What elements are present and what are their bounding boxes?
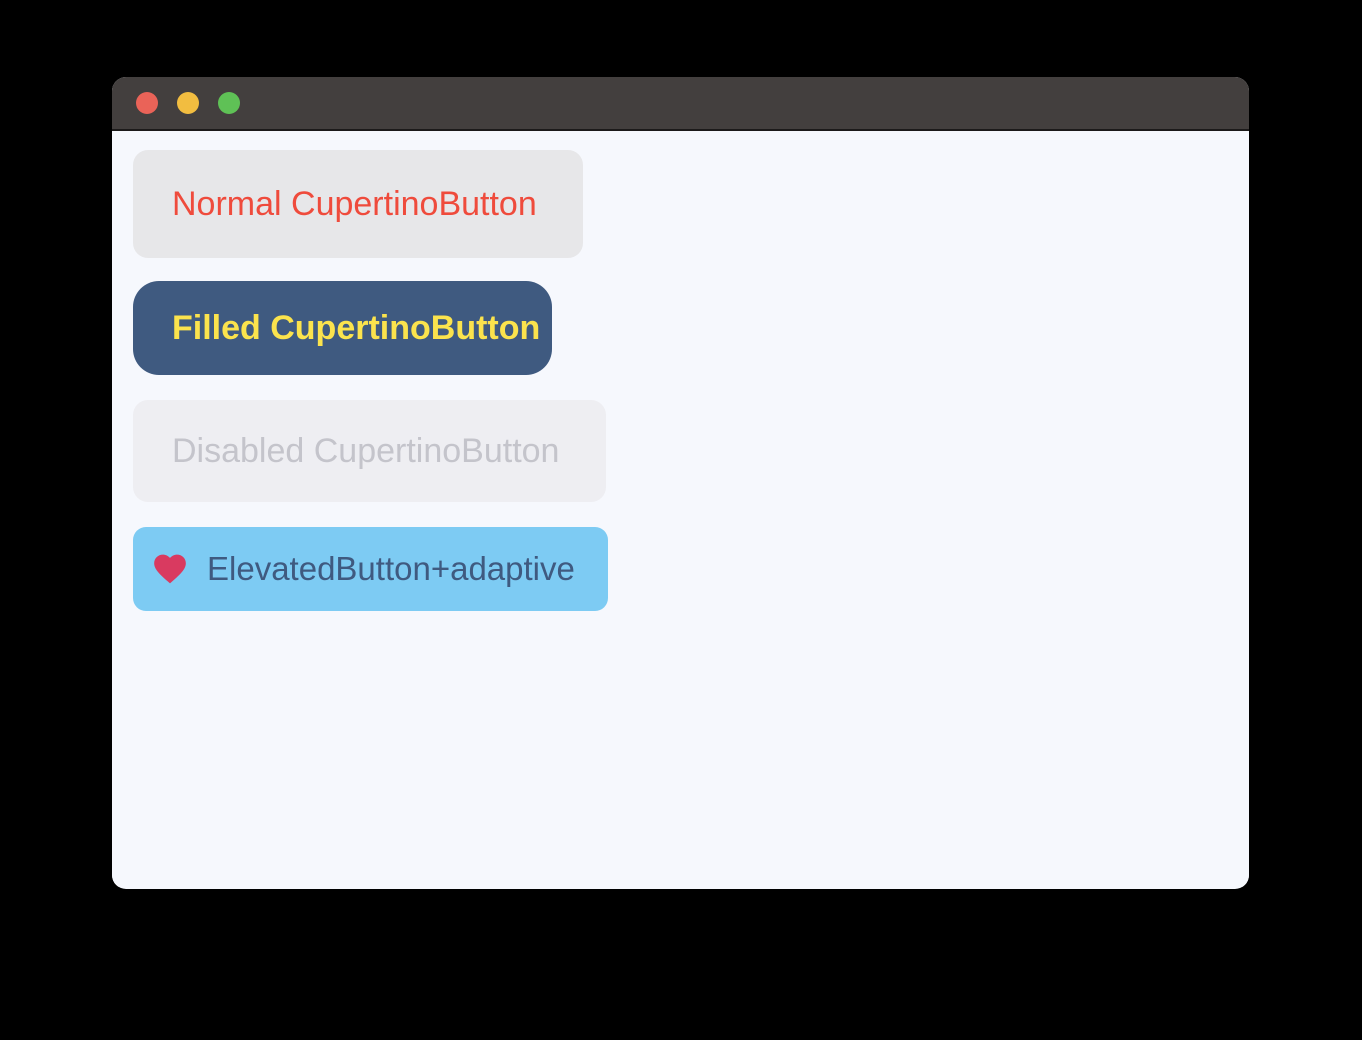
minimize-window-button[interactable] <box>177 92 199 114</box>
heart-icon <box>151 550 189 588</box>
window-content: Normal CupertinoButton Filled CupertinoB… <box>112 131 1249 887</box>
elevated-button-adaptive[interactable]: ElevatedButton+adaptive <box>133 527 608 611</box>
close-window-button[interactable] <box>136 92 158 114</box>
screen-backdrop: Normal CupertinoButton Filled CupertinoB… <box>0 0 1362 1040</box>
window-titlebar[interactable] <box>112 77 1249 131</box>
normal-cupertino-button-label: Normal CupertinoButton <box>172 185 537 224</box>
elevated-button-adaptive-label: ElevatedButton+adaptive <box>207 550 575 588</box>
normal-cupertino-button[interactable]: Normal CupertinoButton <box>133 150 583 258</box>
maximize-window-button[interactable] <box>218 92 240 114</box>
traffic-light-group <box>136 92 240 114</box>
filled-cupertino-button-label: Filled CupertinoButton <box>172 309 540 348</box>
disabled-cupertino-button: Disabled CupertinoButton <box>133 400 606 502</box>
filled-cupertino-button[interactable]: Filled CupertinoButton <box>133 281 552 375</box>
app-window: Normal CupertinoButton Filled CupertinoB… <box>112 77 1249 889</box>
disabled-cupertino-button-label: Disabled CupertinoButton <box>172 432 559 471</box>
